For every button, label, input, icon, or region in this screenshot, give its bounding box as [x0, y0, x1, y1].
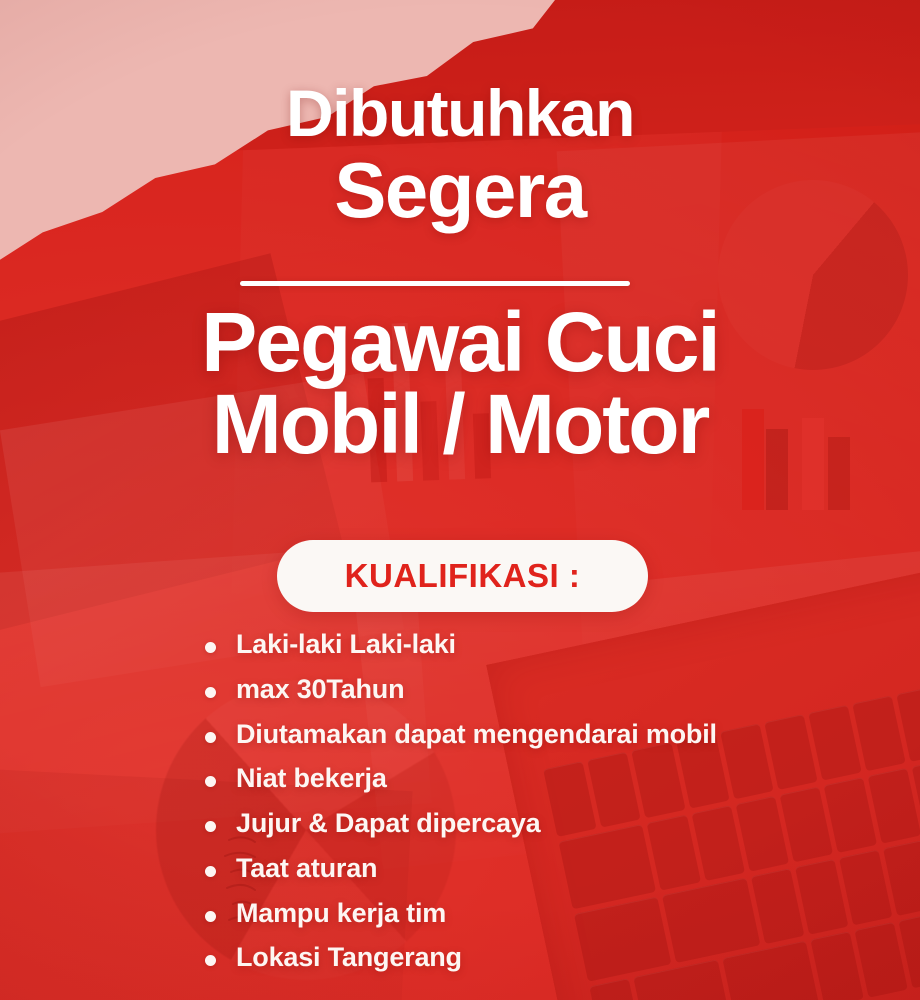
headline-divider — [240, 281, 630, 286]
headline-line-1: Dibutuhkan — [0, 82, 920, 145]
qualifications-badge: KUALIFIKASI : — [277, 540, 648, 612]
poster-content: Dibutuhkan Segera Pegawai Cuci Mobil / M… — [0, 0, 920, 1000]
qualification-label: Diutamakan dapat mengendarai mobil — [236, 718, 717, 752]
headline-line-2: Segera — [0, 153, 920, 227]
qualification-item: Lokasi Tangerang — [205, 941, 717, 975]
qualification-item: Niat bekerja — [205, 762, 717, 796]
qualification-label: Taat aturan — [236, 852, 377, 886]
job-title-line-1: Pegawai Cuci — [0, 300, 920, 386]
bullet-icon — [205, 687, 216, 698]
qualifications-badge-label: KUALIFIKASI : — [345, 557, 581, 595]
bullet-icon — [205, 821, 216, 832]
qualification-label: Jujur & Dapat dipercaya — [236, 807, 541, 841]
job-title-block: Pegawai Cuci Mobil / Motor — [0, 300, 920, 467]
qualification-item: Diutamakan dapat mengendarai mobil — [205, 718, 717, 752]
bullet-icon — [205, 866, 216, 877]
qualification-item: Taat aturan — [205, 852, 717, 886]
job-title-line-2: Mobil / Motor — [0, 382, 920, 468]
qualification-label: Niat bekerja — [236, 762, 387, 796]
bullet-icon — [205, 732, 216, 743]
job-vacancy-poster: Dibutuhkan Segera Pegawai Cuci Mobil / M… — [0, 0, 920, 1000]
qualification-label: Lokasi Tangerang — [236, 941, 462, 975]
bullet-icon — [205, 911, 216, 922]
bullet-icon — [205, 776, 216, 787]
qualification-item: Jujur & Dapat dipercaya — [205, 807, 717, 841]
qualification-item: Laki-laki Laki-laki — [205, 628, 717, 662]
bullet-icon — [205, 955, 216, 966]
qualification-label: Mampu kerja tim — [236, 897, 446, 931]
qualification-label: max 30Tahun — [236, 673, 404, 707]
qualification-label: Laki-laki Laki-laki — [236, 628, 456, 662]
qualifications-list: Laki-laki Laki-lakimax 30TahunDiutamakan… — [205, 628, 717, 986]
headline-block: Dibutuhkan Segera — [0, 82, 920, 227]
qualification-item: max 30Tahun — [205, 673, 717, 707]
qualification-item: Mampu kerja tim — [205, 897, 717, 931]
bullet-icon — [205, 642, 216, 653]
